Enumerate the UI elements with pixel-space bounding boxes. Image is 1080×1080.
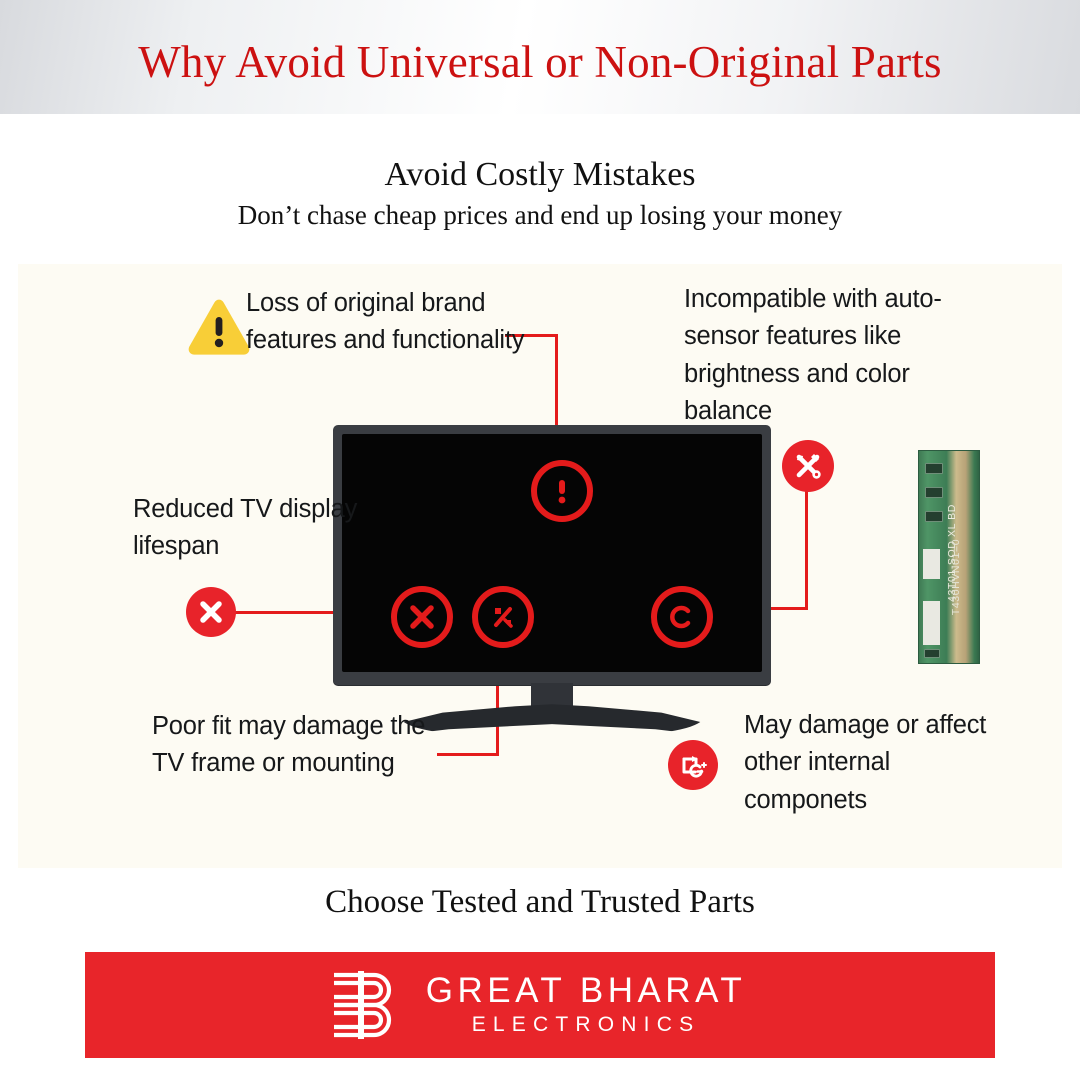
intro-headline: Avoid Costly Mistakes (0, 156, 1080, 194)
sensor-c-icon (651, 586, 713, 648)
connector-line-incompatible-vertical (805, 488, 808, 609)
tagline: Choose Tested and Trusted Parts (0, 884, 1080, 921)
pcb-label-line2: T430HVN01=0 (950, 492, 962, 662)
tools-cross-icon (782, 440, 834, 492)
broken-percent-icon (472, 586, 534, 648)
callout-reduced-lifespan: Reduced TV display lifespan (133, 491, 363, 566)
exclamation-circle-icon (531, 460, 593, 522)
brand-subtitle: ELECTRONICS (472, 1013, 701, 1037)
warning-triangle-icon (186, 297, 252, 359)
circle-x-icon-screen (391, 586, 453, 648)
intro-subline: Don’t chase cheap prices and end up losi… (0, 200, 1080, 231)
tcon-board-image: 43T01-SOD XL BD T430HVN01=0 (918, 450, 980, 664)
callout-loss-of-features: Loss of original brand features and func… (246, 285, 526, 360)
circle-x-icon-lifespan (186, 587, 236, 637)
callout-incompatible-sensors: Incompatible with auto-sensor features l… (684, 281, 984, 431)
callout-internal-damage: May damage or affect other internal comp… (744, 707, 1014, 819)
brand-name: GREAT BHARAT (426, 973, 746, 1010)
great-bharat-b-logo (334, 969, 402, 1041)
page-title: Why Avoid Universal or Non-Original Part… (0, 36, 1080, 88)
export-damage-icon (668, 740, 718, 790)
infographic-canvas: Why Avoid Universal or Non-Original Part… (0, 0, 1080, 1080)
callout-poor-fit: Poor fit may damage the TV frame or moun… (152, 708, 452, 783)
brand-footer-bar: GREAT BHARAT ELECTRONICS (85, 952, 995, 1058)
